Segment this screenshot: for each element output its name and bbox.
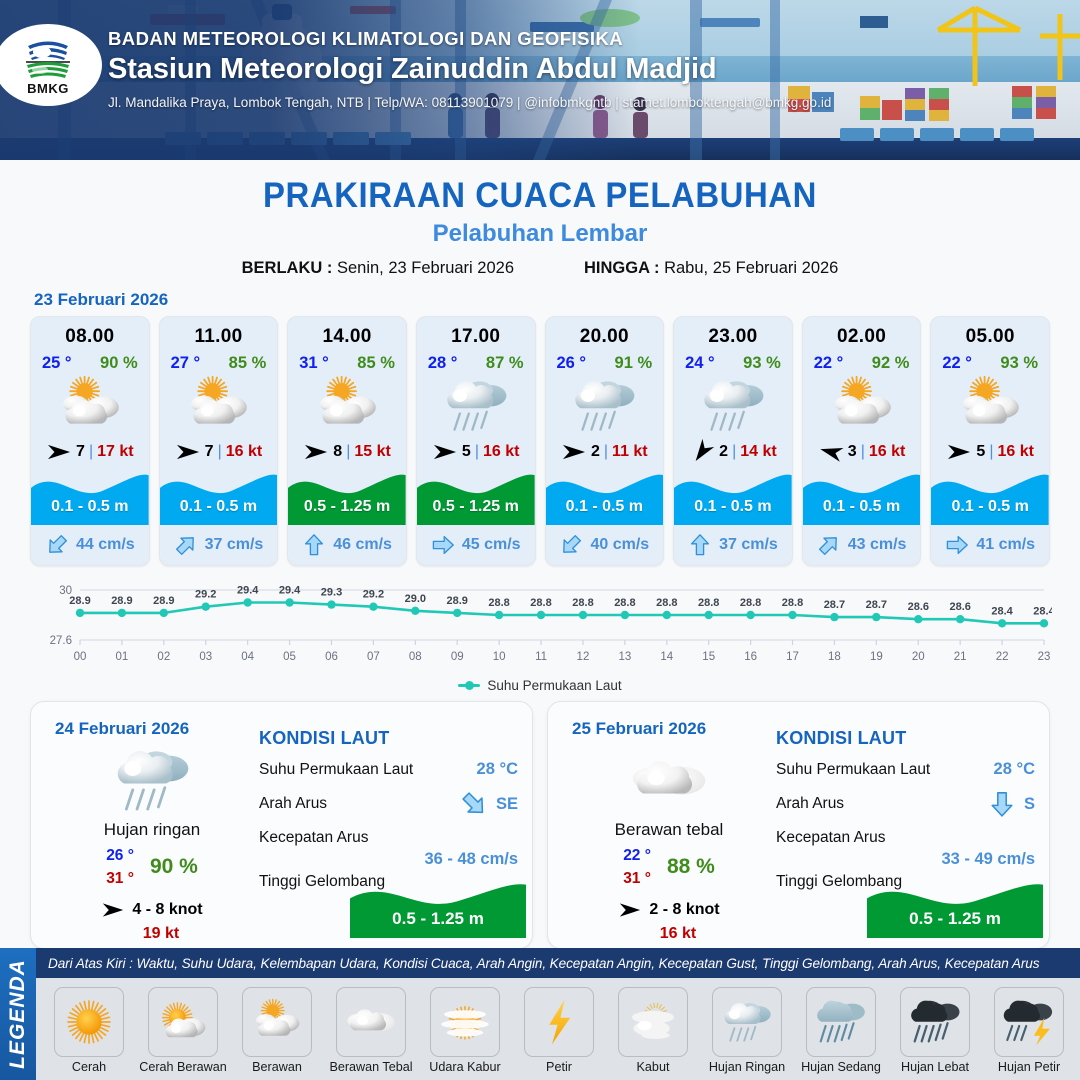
svg-text:28.7: 28.7 [824,599,845,611]
daily-forecast-panels: 24 Februari 2026 Hujan ringan 26 ° 31 ° [0,693,1080,949]
card-wave: 0.1 - 0.5 m [160,467,278,525]
legend-item-label: Cerah [42,1060,136,1074]
card-time: 17.00 [417,317,535,348]
panel-wave-graphic: 0.5 - 1.25 m [350,876,526,938]
legend-item-label: Kabut [606,1060,700,1074]
weather-icon-hujan-ringan [47,744,257,816]
card-current-speed: 44 cm/s [76,536,135,554]
svg-text:28.8: 28.8 [656,597,677,609]
legend-item: Petir [512,987,606,1074]
card-current-speed: 37 cm/s [205,536,264,554]
card-gust: 16 kt [997,443,1033,461]
wind-direction-value: 5 [976,443,985,461]
current-direction-arrow-icon [302,533,326,557]
svg-text:29.3: 29.3 [321,587,342,599]
svg-text:28.6: 28.6 [908,601,929,613]
wind-direction-value: 2 [591,443,600,461]
valid-until: HINGGA : Rabu, 25 Februari 2026 [584,259,838,278]
page-subtitle: Pelabuhan Lembar [0,220,1080,248]
weather-icon-hujan-sedang [806,987,876,1057]
svg-text:29.2: 29.2 [195,589,216,601]
wind-direction-arrow-icon [689,439,715,465]
hourly-card: 02.00 22 ° 92 % 3 | 16 kt 0.1 - 0.5 m 43… [802,316,922,566]
card-current: 45 cm/s [417,525,535,565]
current-direction-label: Arah Arus [259,795,327,813]
panel-wind-speed: 4 - 8 knot [132,901,202,919]
card-wind: 2 | 14 kt [674,437,792,467]
panel-temp-max: 31 ° [623,867,651,890]
valid-from-value: Senin, 23 Februari 2026 [337,259,514,277]
weather-icon-hujan-lebat [900,987,970,1057]
panel-gust: 19 kt [65,925,257,943]
chart-legend: Suhu Permukaan Laut [0,678,1080,693]
legend-side-title: LEGENDA [0,948,36,1080]
card-wave: 0.1 - 0.5 m [546,467,664,525]
panel-humidity: 88 % [667,855,715,879]
card-time: 20.00 [546,317,664,348]
svg-text:06: 06 [325,651,338,663]
valid-from-label: BERLAKU : [242,259,333,277]
card-wind: 7 | 17 kt [31,437,149,467]
hourly-card: 17.00 28 ° 87 % 5 | 16 kt [416,316,536,566]
current-direction-label: Arah Arus [776,795,844,813]
svg-text:00: 00 [74,651,87,663]
current-direction-arrow-icon [817,533,841,557]
chart-legend-label: Suhu Permukaan Laut [487,678,621,693]
card-temperature: 31 ° [299,354,329,373]
weather-icon-hujan-ringan [546,375,664,437]
sea-conditions-title: KONDISI LAUT [776,728,1035,749]
legend-item: Berawan [230,987,324,1074]
card-temperature: 28 ° [428,354,458,373]
weather-icon-hujan-ringan [417,375,535,437]
legend-item: Udara Kabur [418,987,512,1074]
legend-item-label: Hujan Lebat [888,1060,982,1074]
legend-item: Hujan Lebat [888,987,982,1074]
card-current-speed: 40 cm/s [590,536,649,554]
legend-note: Dari Atas Kiri : Waktu, Suhu Udara, Kele… [36,948,1080,978]
svg-text:10: 10 [493,651,506,663]
current-speed-value: 33 - 49 cm/s [776,850,1035,869]
card-wave: 0.1 - 0.5 m [31,467,149,525]
card-wave-height: 0.1 - 0.5 m [546,498,664,516]
svg-text:28.4: 28.4 [991,605,1013,617]
sst-label: Suhu Permukaan Laut [776,761,930,779]
wind-separator: | [604,443,608,461]
panel-wind: 4 - 8 knot [47,898,257,922]
svg-text:12: 12 [577,651,590,663]
current-direction-arrow-icon [988,790,1016,818]
wind-direction-arrow-icon [618,898,642,922]
daily-panel: 25 Februari 2026 Berawan tebal 22 ° 31 °… [547,701,1050,949]
svg-text:17: 17 [786,651,799,663]
svg-text:28.8: 28.8 [488,597,509,609]
card-current-speed: 45 cm/s [462,536,521,554]
card-wave-height: 0.1 - 0.5 m [931,498,1049,516]
current-direction-arrow-icon [460,790,488,818]
card-wind: 8 | 15 kt [288,437,406,467]
valid-from: BERLAKU : Senin, 23 Februari 2026 [242,259,514,278]
legend-item: Hujan Petir [982,987,1076,1074]
wind-direction-arrow-icon [561,439,587,465]
card-gust: 16 kt [226,443,262,461]
svg-text:28.4: 28.4 [1033,605,1052,617]
svg-text:28.6: 28.6 [949,601,970,613]
weather-icon-berawan-tebal [336,987,406,1057]
current-speed-value: 36 - 48 cm/s [259,850,518,869]
svg-text:07: 07 [367,651,380,663]
card-current-speed: 43 cm/s [848,536,907,554]
hourly-day-label: 23 Februari 2026 [34,290,1080,310]
wind-direction-arrow-icon [46,439,72,465]
svg-text:18: 18 [828,651,841,663]
weather-icon-hujan-ringan [674,375,792,437]
card-gust: 16 kt [869,443,905,461]
weather-icon-kabut [618,987,688,1057]
svg-text:22: 22 [996,651,1009,663]
sst-label: Suhu Permukaan Laut [259,761,413,779]
svg-text:28.8: 28.8 [530,597,551,609]
card-humidity: 93 % [1000,354,1038,373]
panel-wind: 2 - 8 knot [564,898,774,922]
wind-direction-value: 7 [76,443,85,461]
svg-text:29.4: 29.4 [279,585,301,597]
legend-item: Kabut [606,987,700,1074]
svg-text:28.7: 28.7 [866,599,887,611]
wind-direction-value: 8 [333,443,342,461]
panel-condition: Hujan ringan [47,820,257,840]
card-wave: 0.5 - 1.25 m [288,467,406,525]
panel-wave-graphic: 0.5 - 1.25 m [867,876,1043,938]
agency-name: BADAN METEOROLOGI KLIMATOLOGI DAN GEOFIS… [108,28,1068,50]
legend-item-label: Berawan Tebal [324,1060,418,1074]
wind-separator: | [989,443,993,461]
weather-icon-berawan [31,375,149,437]
svg-text:28.9: 28.9 [446,595,467,607]
svg-text:21: 21 [954,651,967,663]
sea-conditions-title: KONDISI LAUT [259,728,518,749]
card-temperature: 24 ° [685,354,715,373]
legend-item: Berawan Tebal [324,987,418,1074]
svg-text:29.2: 29.2 [363,589,384,601]
current-direction-arrow-icon [559,533,583,557]
card-temperature: 27 ° [171,354,201,373]
legend-strip: LEGENDA Dari Atas Kiri : Waktu, Suhu Uda… [0,948,1080,1080]
svg-text:28.8: 28.8 [740,597,761,609]
weather-icon-berawan-tebal [564,744,774,816]
svg-text:09: 09 [451,651,464,663]
weather-icon-berawan [803,375,921,437]
svg-text:29.0: 29.0 [405,593,426,605]
svg-text:23: 23 [1038,651,1051,663]
card-gust: 15 kt [354,443,390,461]
card-current-speed: 37 cm/s [719,536,778,554]
card-time: 11.00 [160,317,278,348]
card-time: 14.00 [288,317,406,348]
card-time: 23.00 [674,317,792,348]
wind-separator: | [475,443,479,461]
current-direction-value: SE [496,795,518,814]
legend-item-label: Berawan [230,1060,324,1074]
svg-text:01: 01 [116,651,129,663]
legend-item: Cerah [42,987,136,1074]
title-section: PRAKIRAAN CUACA PELABUHAN Pelabuhan Lemb… [0,160,1080,278]
card-wave-height: 0.1 - 0.5 m [803,498,921,516]
page-header: BMKG BADAN METEOROLOGI KLIMATOLOGI DAN G… [0,0,1080,160]
current-direction-arrow-icon [45,533,69,557]
hourly-card: 20.00 26 ° 91 % 2 | 11 kt [545,316,665,566]
wind-direction-arrow-icon [818,439,844,465]
card-humidity: 90 % [100,354,138,373]
wind-direction-arrow-icon [432,439,458,465]
wind-direction-value: 5 [462,443,471,461]
card-gust: 14 kt [740,443,776,461]
wind-separator: | [218,443,222,461]
weather-icon-berawan [931,375,1049,437]
panel-wave-value: 0.5 - 1.25 m [867,909,1043,929]
card-humidity: 92 % [872,354,910,373]
wind-separator: | [732,443,736,461]
card-wind: 2 | 11 kt [546,437,664,467]
wind-direction-arrow-icon [175,439,201,465]
svg-text:20: 20 [912,651,925,663]
wind-separator: | [861,443,865,461]
svg-text:28.9: 28.9 [69,595,90,607]
card-current: 46 cm/s [288,525,406,565]
current-speed-label: Kecepatan Arus [776,829,885,846]
card-wind: 5 | 16 kt [417,437,535,467]
panel-humidity: 90 % [150,855,198,879]
svg-text:13: 13 [618,651,631,663]
card-temperature: 22 ° [814,354,844,373]
card-current-speed: 41 cm/s [976,536,1035,554]
svg-text:04: 04 [241,651,254,663]
svg-text:03: 03 [199,651,212,663]
validity-range: BERLAKU : Senin, 23 Februari 2026 HINGGA… [0,259,1080,278]
chart-legend-marker [458,684,480,687]
current-speed-label: Kecepatan Arus [259,829,368,846]
bmkg-logo-mark [22,36,74,82]
card-wave-height: 0.5 - 1.25 m [417,498,535,516]
card-current: 37 cm/s [674,525,792,565]
valid-until-label: HINGGA : [584,259,659,277]
card-humidity: 87 % [486,354,524,373]
current-direction-arrow-icon [688,533,712,557]
hourly-card: 05.00 22 ° 93 % 5 | 16 kt 0.1 - 0.5 m 41… [930,316,1050,566]
current-direction-arrow-icon [945,533,969,557]
contact-line: Jl. Mandalika Praya, Lombok Tengah, NTB … [108,95,1068,110]
bmkg-logo-text: BMKG [27,82,69,95]
wind-direction-value: 2 [719,443,728,461]
card-time: 08.00 [31,317,149,348]
card-wave: 0.1 - 0.5 m [931,467,1049,525]
card-temperature: 25 ° [42,354,72,373]
svg-text:27.6: 27.6 [50,635,72,647]
card-wind: 5 | 16 kt [931,437,1049,467]
wind-direction-arrow-icon [303,439,329,465]
svg-text:15: 15 [702,651,715,663]
svg-text:28.8: 28.8 [614,597,635,609]
wind-direction-arrow-icon [101,898,125,922]
legend-item: Hujan Sedang [794,987,888,1074]
card-wave-height: 0.1 - 0.5 m [160,498,278,516]
hourly-card: 11.00 27 ° 85 % 7 | 16 kt 0.1 - 0.5 m 37… [159,316,279,566]
valid-until-value: Rabu, 25 Februari 2026 [664,259,838,277]
panel-temp-min: 22 ° [623,844,651,867]
legend-item: Cerah Berawan [136,987,230,1074]
card-humidity: 93 % [743,354,781,373]
svg-text:19: 19 [870,651,883,663]
weather-icon-udara-kabur [430,987,500,1057]
hourly-card: 08.00 25 ° 90 % 7 | 17 kt 0.1 - 0.5 m 44… [30,316,150,566]
legend-item-label: Petir [512,1060,606,1074]
card-current: 41 cm/s [931,525,1049,565]
panel-temp-max: 31 ° [106,867,134,890]
card-current: 43 cm/s [803,525,921,565]
card-wave: 0.1 - 0.5 m [803,467,921,525]
card-current: 44 cm/s [31,525,149,565]
wind-direction-arrow-icon [946,439,972,465]
card-wave-height: 0.1 - 0.5 m [674,498,792,516]
svg-text:16: 16 [744,651,757,663]
svg-text:11: 11 [535,651,547,663]
panel-wind-speed: 2 - 8 knot [649,901,719,919]
weather-icon-cerah-berawan [148,987,218,1057]
card-gust: 16 kt [483,443,519,461]
weather-icon-berawan [160,375,278,437]
svg-text:08: 08 [409,651,422,663]
card-humidity: 91 % [615,354,653,373]
station-name: Stasiun Meteorologi Zainuddin Abdul Madj… [108,53,1068,86]
card-temperature: 22 ° [942,354,972,373]
card-wave: 0.5 - 1.25 m [417,467,535,525]
card-time: 02.00 [803,317,921,348]
panel-temp-min: 26 ° [106,844,134,867]
card-humidity: 85 % [229,354,267,373]
legend-item-label: Udara Kabur [418,1060,512,1074]
card-wind: 3 | 16 kt [803,437,921,467]
page-title: PRAKIRAAN CUACA PELABUHAN [32,176,1047,216]
svg-text:28.8: 28.8 [782,597,803,609]
svg-text:28.8: 28.8 [698,597,719,609]
wind-separator: | [89,443,93,461]
panel-gust: 16 kt [582,925,774,943]
card-gust: 17 kt [97,443,133,461]
svg-text:28.9: 28.9 [111,595,132,607]
wind-direction-value: 3 [848,443,857,461]
card-wave: 0.1 - 0.5 m [674,467,792,525]
hourly-card: 14.00 31 ° 85 % 8 | 15 kt 0.5 - 1.25 m 4… [287,316,407,566]
card-current: 37 cm/s [160,525,278,565]
card-humidity: 85 % [357,354,395,373]
svg-text:29.4: 29.4 [237,585,259,597]
weather-icon-hujan-petir [994,987,1064,1057]
card-wind: 7 | 16 kt [160,437,278,467]
panel-date: 25 Februari 2026 [572,719,706,739]
legend-item-label: Hujan Sedang [794,1060,888,1074]
panel-date: 24 Februari 2026 [55,719,189,739]
wind-direction-value: 7 [205,443,214,461]
legend-item: Hujan Ringan [700,987,794,1074]
weather-icon-cerah [54,987,124,1057]
wind-separator: | [346,443,350,461]
legend-icon-list: Cerah Cerah Berawan Berawan [36,978,1080,1080]
card-temperature: 26 ° [557,354,587,373]
svg-text:02: 02 [157,651,170,663]
weather-icon-berawan [288,375,406,437]
legend-item-label: Hujan Ringan [700,1060,794,1074]
card-time: 05.00 [931,317,1049,348]
legend-item-label: Hujan Petir [982,1060,1076,1074]
weather-icon-petir [524,987,594,1057]
legend-item-label: Cerah Berawan [136,1060,230,1074]
panel-condition: Berawan tebal [564,820,774,840]
card-gust: 11 kt [612,443,648,461]
hourly-card: 23.00 24 ° 93 % 2 | 14 kt [673,316,793,566]
sst-chart: 3027.60001020304050607080910111213141516… [28,576,1052,676]
sst-value: 28 °C [477,760,518,779]
weather-icon-hujan-ringan [712,987,782,1057]
svg-text:14: 14 [660,651,673,663]
card-current: 40 cm/s [546,525,664,565]
current-direction-arrow-icon [174,533,198,557]
current-direction-value: S [1024,795,1035,814]
current-direction-arrow-icon [431,533,455,557]
svg-text:05: 05 [283,651,296,663]
daily-panel: 24 Februari 2026 Hujan ringan 26 ° 31 ° [30,701,533,949]
weather-icon-berawan [242,987,312,1057]
card-wave-height: 0.1 - 0.5 m [31,498,149,516]
hourly-forecast-cards: 08.00 25 ° 90 % 7 | 17 kt 0.1 - 0.5 m 44… [0,316,1080,566]
card-current-speed: 46 cm/s [333,536,392,554]
panel-wave-value: 0.5 - 1.25 m [350,909,526,929]
sst-value: 28 °C [994,760,1035,779]
svg-text:28.8: 28.8 [572,597,593,609]
card-wave-height: 0.5 - 1.25 m [288,498,406,516]
svg-text:28.9: 28.9 [153,595,174,607]
